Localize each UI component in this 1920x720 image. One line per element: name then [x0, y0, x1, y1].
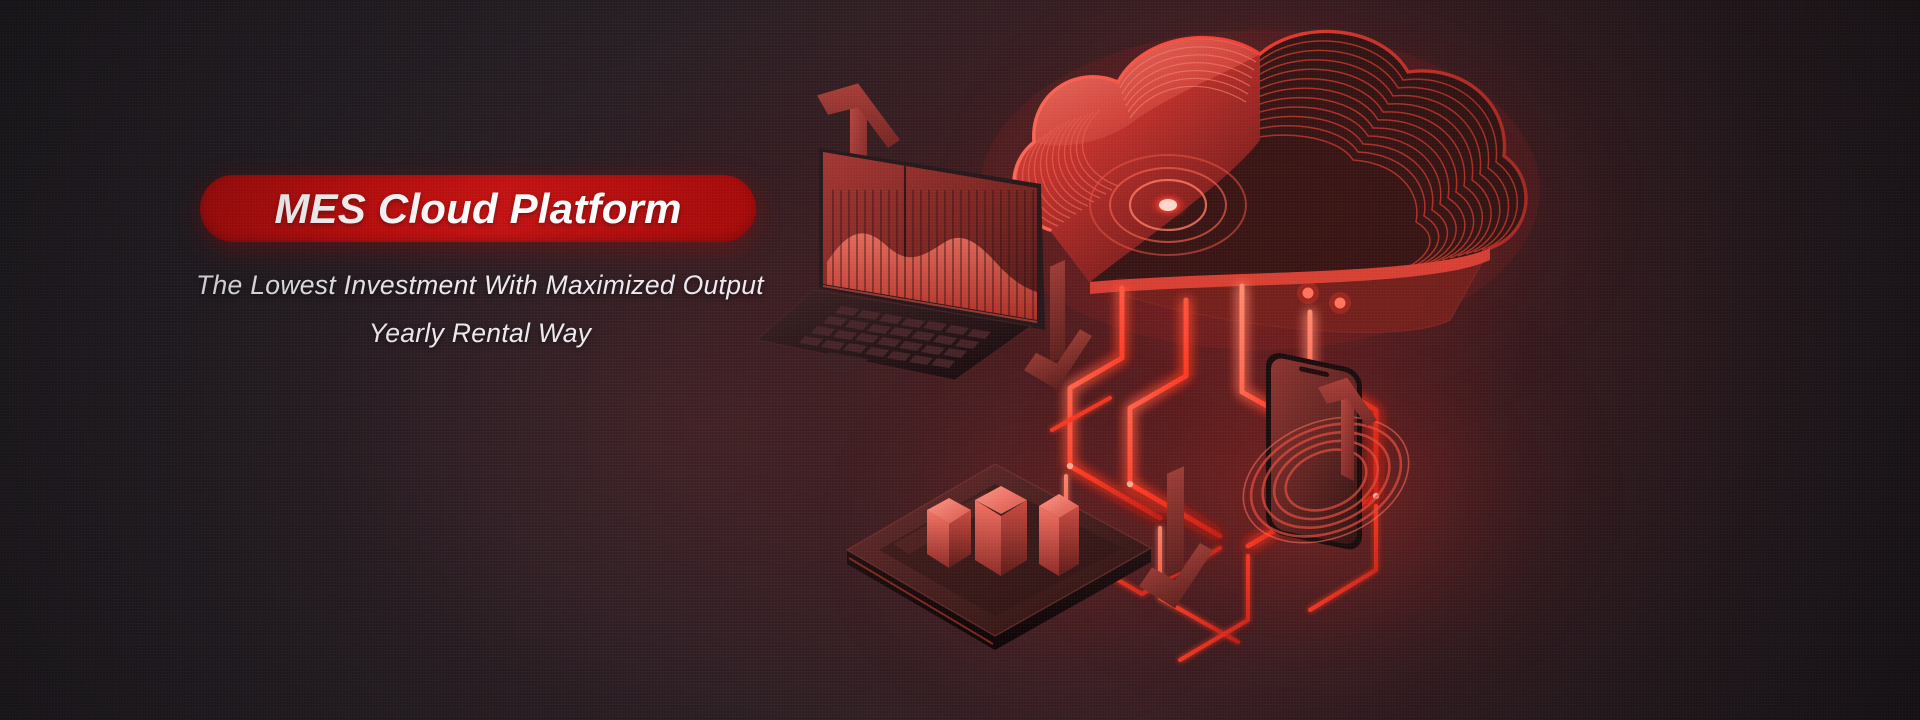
arrow-down-icon	[1135, 470, 1230, 650]
arrow-up-icon	[1315, 340, 1390, 490]
tablet-with-bar-chart-icon	[835, 380, 1165, 650]
hero-text-block: MES Cloud Platform The Lowest Investment…	[0, 160, 960, 420]
subtitle-line-1: The Lowest Investment With Maximized Out…	[0, 270, 960, 301]
page-title: MES Cloud Platform	[274, 185, 681, 233]
hero-banner: MES Cloud Platform The Lowest Investment…	[0, 0, 1920, 720]
arrow-down-icon	[1020, 260, 1110, 430]
subtitle-line-2: Yearly Rental Way	[0, 318, 960, 349]
title-pill-badge: MES Cloud Platform	[200, 175, 756, 242]
